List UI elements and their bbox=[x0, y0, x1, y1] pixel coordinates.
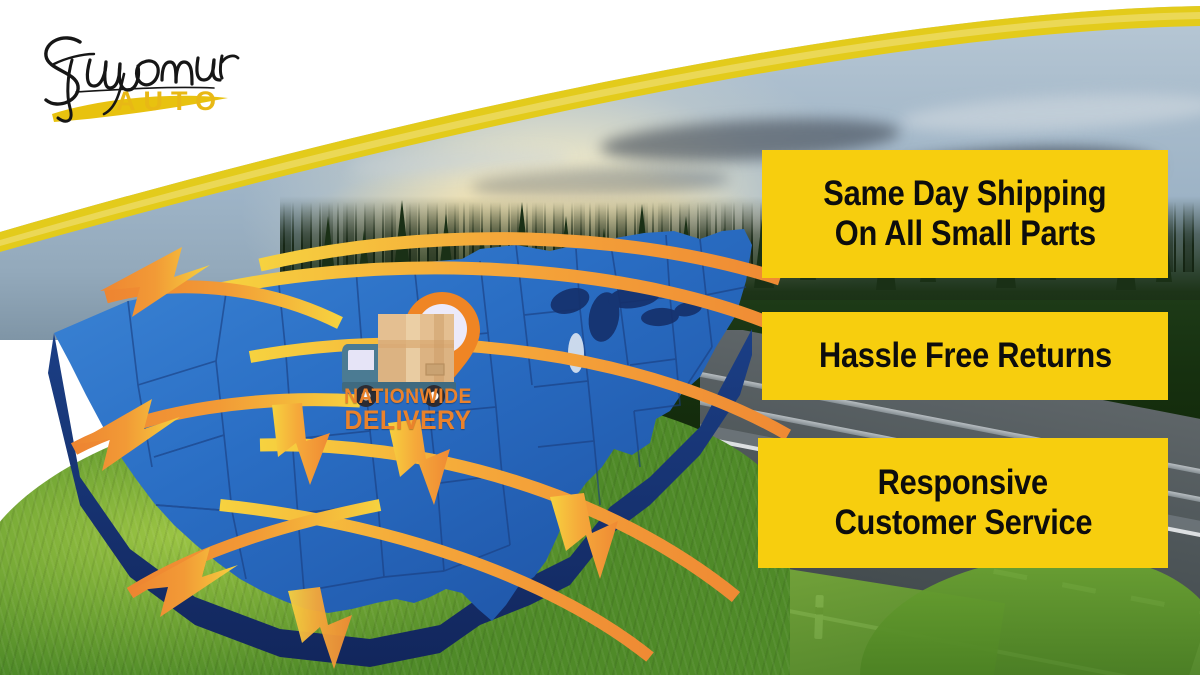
headline-line-2: DELIVERY bbox=[334, 407, 481, 435]
logo-auto-text: AUTO bbox=[116, 86, 224, 116]
svg-text:AUTO: AUTO bbox=[116, 86, 224, 116]
callout-line: Responsive bbox=[878, 463, 1048, 503]
callout-line: Customer Service bbox=[834, 503, 1092, 543]
callout-line: On All Small Parts bbox=[834, 214, 1095, 254]
callout-same-day-shipping[interactable]: Same Day Shipping On All Small Parts bbox=[762, 150, 1168, 278]
promo-banner: NATIONWIDE DELIVERY bbox=[0, 0, 1200, 675]
nationwide-delivery-headline: NATIONWIDE DELIVERY bbox=[328, 386, 488, 435]
seymour-auto-logo[interactable]: AUTO bbox=[24, 18, 254, 128]
callout-line: Hassle Free Returns bbox=[819, 336, 1112, 376]
callout-responsive-customer-service[interactable]: Responsive Customer Service bbox=[758, 438, 1168, 568]
headline-line-1: NATIONWIDE bbox=[334, 386, 481, 407]
callout-hassle-free-returns[interactable]: Hassle Free Returns bbox=[762, 312, 1168, 400]
callout-line: Same Day Shipping bbox=[823, 174, 1106, 214]
